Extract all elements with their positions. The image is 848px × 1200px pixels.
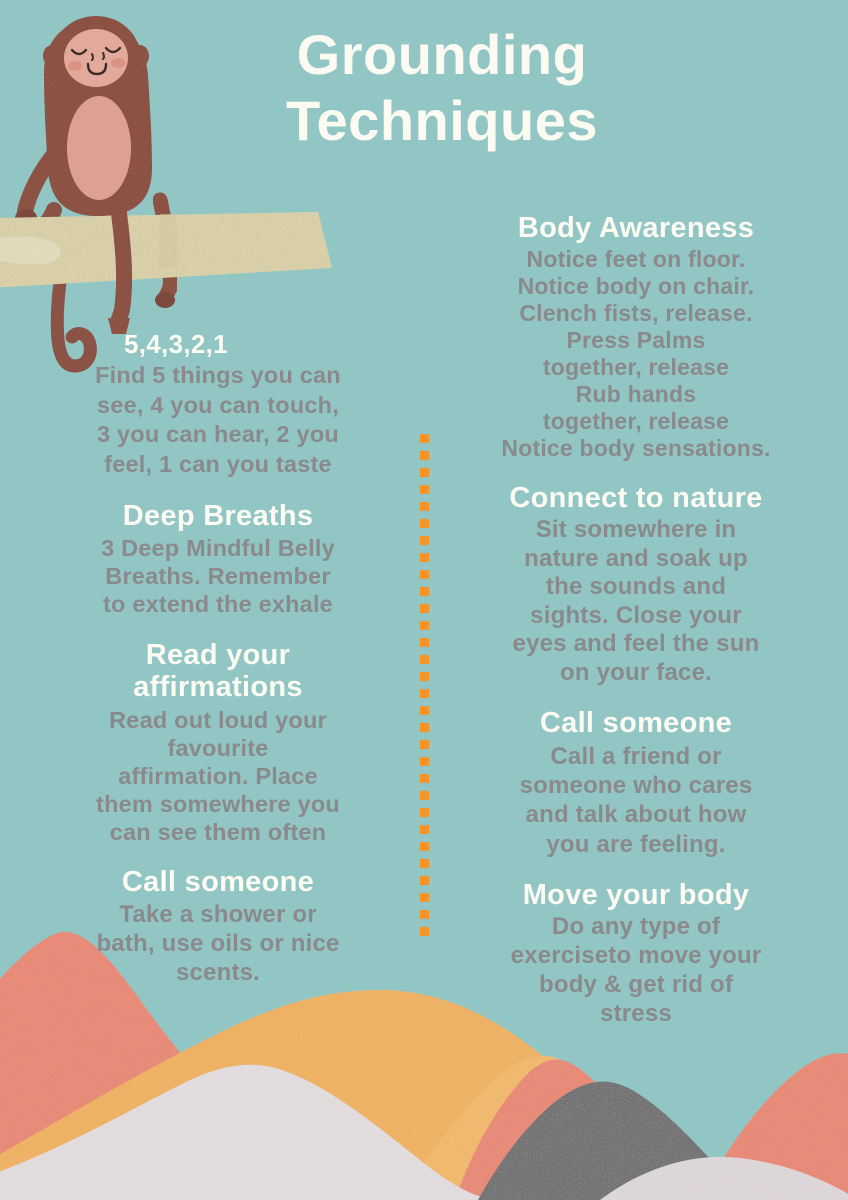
technique-block-affirmations: Read your affirmations Read out loud you… [28,639,408,847]
poster-title: Grounding Techniques [232,22,652,154]
technique-body-line: exerciseto move your [440,942,832,971]
technique-block-move-body: Move your body Do any type of exerciseto… [440,879,832,1029]
technique-body: Call a friend or someone who cares and t… [440,742,832,859]
technique-block-deep-breaths: Deep Breaths 3 Deep Mindful Belly Breath… [28,500,408,619]
technique-heading: Call someone [440,707,832,739]
divider-dot [420,689,429,698]
technique-body-line: Clench fists, release. [440,300,832,327]
technique-body-line: the sounds and [440,573,832,602]
divider-dot [420,859,429,868]
divider-dot [420,893,429,902]
technique-body: Sit somewhere in nature and soak up the … [440,516,832,687]
divider-dot [420,553,429,562]
dotted-divider [420,434,431,938]
poster-title-line-2: Techniques [232,88,652,154]
divider-dot [420,485,429,494]
technique-heading-line: Read your [28,639,408,671]
divider-dot [420,451,429,460]
divider-dot [420,587,429,596]
technique-body: Read out loud your favourite affirmation… [28,706,408,847]
monkey-front-leg [108,206,130,334]
technique-block-54321: 5,4,3,2,1 Find 5 things you can see, 4 y… [28,330,408,480]
technique-body-line: Take a shower or [28,901,408,930]
divider-dot [420,927,429,936]
technique-body-line: to extend the exhale [28,590,408,618]
divider-dot [420,621,429,630]
technique-body-line: and talk about how [440,800,832,829]
technique-body-line: see, 4 you can touch, [28,391,408,421]
technique-heading: Call someone [28,866,408,898]
monkey-body [44,20,152,216]
divider-dot [420,757,429,766]
divider-dot [420,672,429,681]
mountain-coral-right [700,1053,848,1200]
technique-body-line: affirmation. Place [28,762,408,790]
technique-heading: Body Awareness [440,212,832,244]
technique-body-line: Notice body sensations. [440,435,832,462]
technique-body: 3 Deep Mindful Belly Breaths. Remember t… [28,534,408,619]
technique-body-line: scents. [28,959,408,988]
technique-body-line: feel, 1 can you taste [28,450,408,480]
technique-body: Find 5 things you can see, 4 you can tou… [28,361,408,479]
divider-dot [420,519,429,528]
divider-dot [420,808,429,817]
technique-body-line: favourite [28,734,408,762]
divider-dot [420,706,429,715]
technique-body: Notice feet on floor. Notice body on cha… [440,246,832,461]
technique-body-line: Sit somewhere in [440,516,832,545]
monkey-right-leg [155,200,175,308]
technique-body-line: 3 you can hear, 2 you [28,420,408,450]
mountain-coral-center-right [455,1059,672,1200]
left-column: 5,4,3,2,1 Find 5 things you can see, 4 y… [28,330,408,991]
technique-body-line: Notice body on chair. [440,273,832,300]
divider-dot [420,468,429,477]
tree-branch [0,212,332,288]
technique-body-line: eyes and feel the sun [440,630,832,659]
divider-dot [420,638,429,647]
technique-body-line: Breaths. Remember [28,562,408,590]
technique-body-line: stress [440,1000,832,1029]
technique-body-line: together, release [440,354,832,381]
divider-dot [420,825,429,834]
technique-body-line: Rub hands [440,381,832,408]
divider-dot [420,910,429,919]
technique-body-line: sights. Close your [440,602,832,631]
technique-body: Take a shower or bath, use oils or nice … [28,901,408,987]
technique-heading: Move your body [440,879,832,911]
technique-heading: Read your affirmations [28,639,408,704]
divider-dot [420,604,429,613]
poster-canvas: Grounding Techniques 5,4,3,2,1 Find 5 th… [0,0,848,1200]
monkey-eye-left [72,50,86,54]
technique-body-line: body & get rid of [440,971,832,1000]
technique-body-line: you are feeling. [440,830,832,859]
monkey-belly [67,96,131,200]
technique-body-line: Press Palms [440,327,832,354]
technique-heading: 5,4,3,2,1 [28,330,408,359]
technique-body-line: someone who cares [440,771,832,800]
monkey-face [64,29,128,87]
divider-dot [420,536,429,545]
mountain-charcoal [478,1082,748,1200]
poster-title-line-1: Grounding [232,22,652,88]
divider-dot [420,876,429,885]
technique-body: Do any type of exerciseto move your body… [440,913,832,1028]
technique-body-line: 3 Deep Mindful Belly [28,534,408,562]
technique-heading: Connect to nature [440,482,832,514]
technique-heading-line: affirmations [28,671,408,703]
divider-dot [420,502,429,511]
technique-block-body-awareness: Body Awareness Notice feet on floor. Not… [440,212,832,462]
technique-body-line: can see them often [28,818,408,846]
monkey-smile [88,64,106,74]
technique-body-line: Notice feet on floor. [440,246,832,273]
technique-body-line: together, release [440,408,832,435]
mountain-lavender [0,1065,500,1200]
technique-body-line: on your face. [440,659,832,688]
divider-dot [420,570,429,579]
technique-body-line: Read out loud your [28,706,408,734]
right-column: Body Awareness Notice feet on floor. Not… [440,212,832,1033]
divider-dot [420,655,429,664]
technique-body-line: Do any type of [440,913,832,942]
technique-heading: Deep Breaths [28,500,408,532]
mountain-lavender-foreground [600,1157,848,1200]
technique-block-shower: Call someone Take a shower or bath, use … [28,866,408,987]
monkey-head [43,16,149,96]
divider-dot [420,774,429,783]
technique-body-line: bath, use oils or nice [28,930,408,959]
divider-dot [420,723,429,732]
monkey-left-arm [15,150,58,229]
technique-body-line: nature and soak up [440,545,832,574]
mountain-orange-right [400,1056,600,1200]
divider-dot [420,740,429,749]
technique-body-line: them somewhere you [28,790,408,818]
technique-block-call-someone: Call someone Call a friend or someone wh… [440,707,832,859]
monkey-eye-right [106,48,120,52]
divider-dot [420,791,429,800]
technique-block-connect-nature: Connect to nature Sit somewhere in natur… [440,482,832,688]
divider-dot [420,842,429,851]
technique-body-line: Find 5 things you can [28,361,408,391]
technique-body-line: Call a friend or [440,742,832,771]
divider-dot [420,434,429,443]
